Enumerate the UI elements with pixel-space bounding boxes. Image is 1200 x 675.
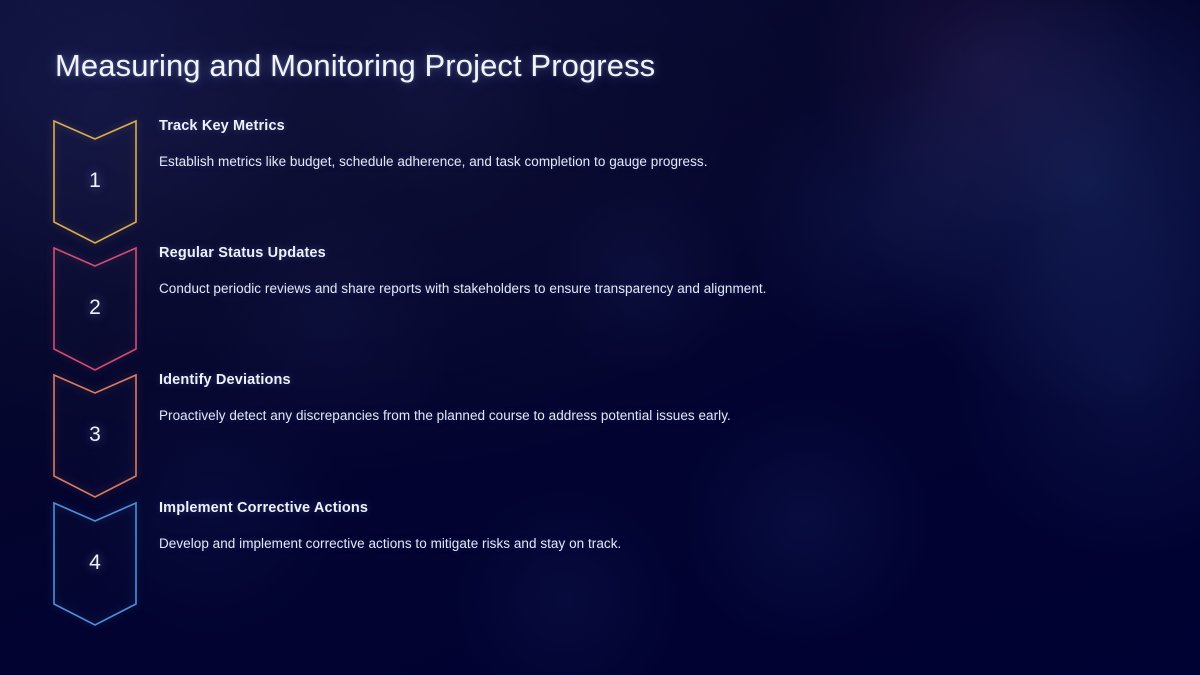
step-chevron-badge: 3 bbox=[52, 372, 138, 500]
slide-canvas: Measuring and Monitoring Project Progres… bbox=[0, 0, 1200, 675]
page-title: Measuring and Monitoring Project Progres… bbox=[55, 48, 655, 84]
step-item[interactable]: 3Identify DeviationsProactively detect a… bbox=[0, 372, 1100, 500]
step-chevron-badge: 4 bbox=[52, 500, 138, 628]
step-description: Proactively detect any discrepancies fro… bbox=[159, 408, 1059, 423]
step-heading: Identify Deviations bbox=[159, 372, 1059, 388]
step-content: Implement Corrective ActionsDevelop and … bbox=[159, 500, 1059, 551]
step-chevron-badge: 1 bbox=[52, 118, 138, 246]
step-description: Develop and implement corrective actions… bbox=[159, 536, 1059, 551]
step-item[interactable]: 2Regular Status UpdatesConduct periodic … bbox=[0, 245, 1100, 373]
step-content: Track Key MetricsEstablish metrics like … bbox=[159, 118, 1059, 169]
step-number: 2 bbox=[52, 245, 138, 373]
step-content: Regular Status UpdatesConduct periodic r… bbox=[159, 245, 1059, 296]
step-item[interactable]: 4Implement Corrective ActionsDevelop and… bbox=[0, 500, 1100, 628]
step-description: Conduct periodic reviews and share repor… bbox=[159, 281, 1059, 296]
step-number: 4 bbox=[52, 500, 138, 628]
step-item[interactable]: 1Track Key MetricsEstablish metrics like… bbox=[0, 118, 1100, 246]
step-description: Establish metrics like budget, schedule … bbox=[159, 154, 1059, 169]
step-chevron-badge: 2 bbox=[52, 245, 138, 373]
step-number: 3 bbox=[52, 372, 138, 500]
step-number: 1 bbox=[52, 118, 138, 246]
step-heading: Regular Status Updates bbox=[159, 245, 1059, 261]
step-content: Identify DeviationsProactively detect an… bbox=[159, 372, 1059, 423]
step-heading: Implement Corrective Actions bbox=[159, 500, 1059, 516]
step-heading: Track Key Metrics bbox=[159, 118, 1059, 134]
